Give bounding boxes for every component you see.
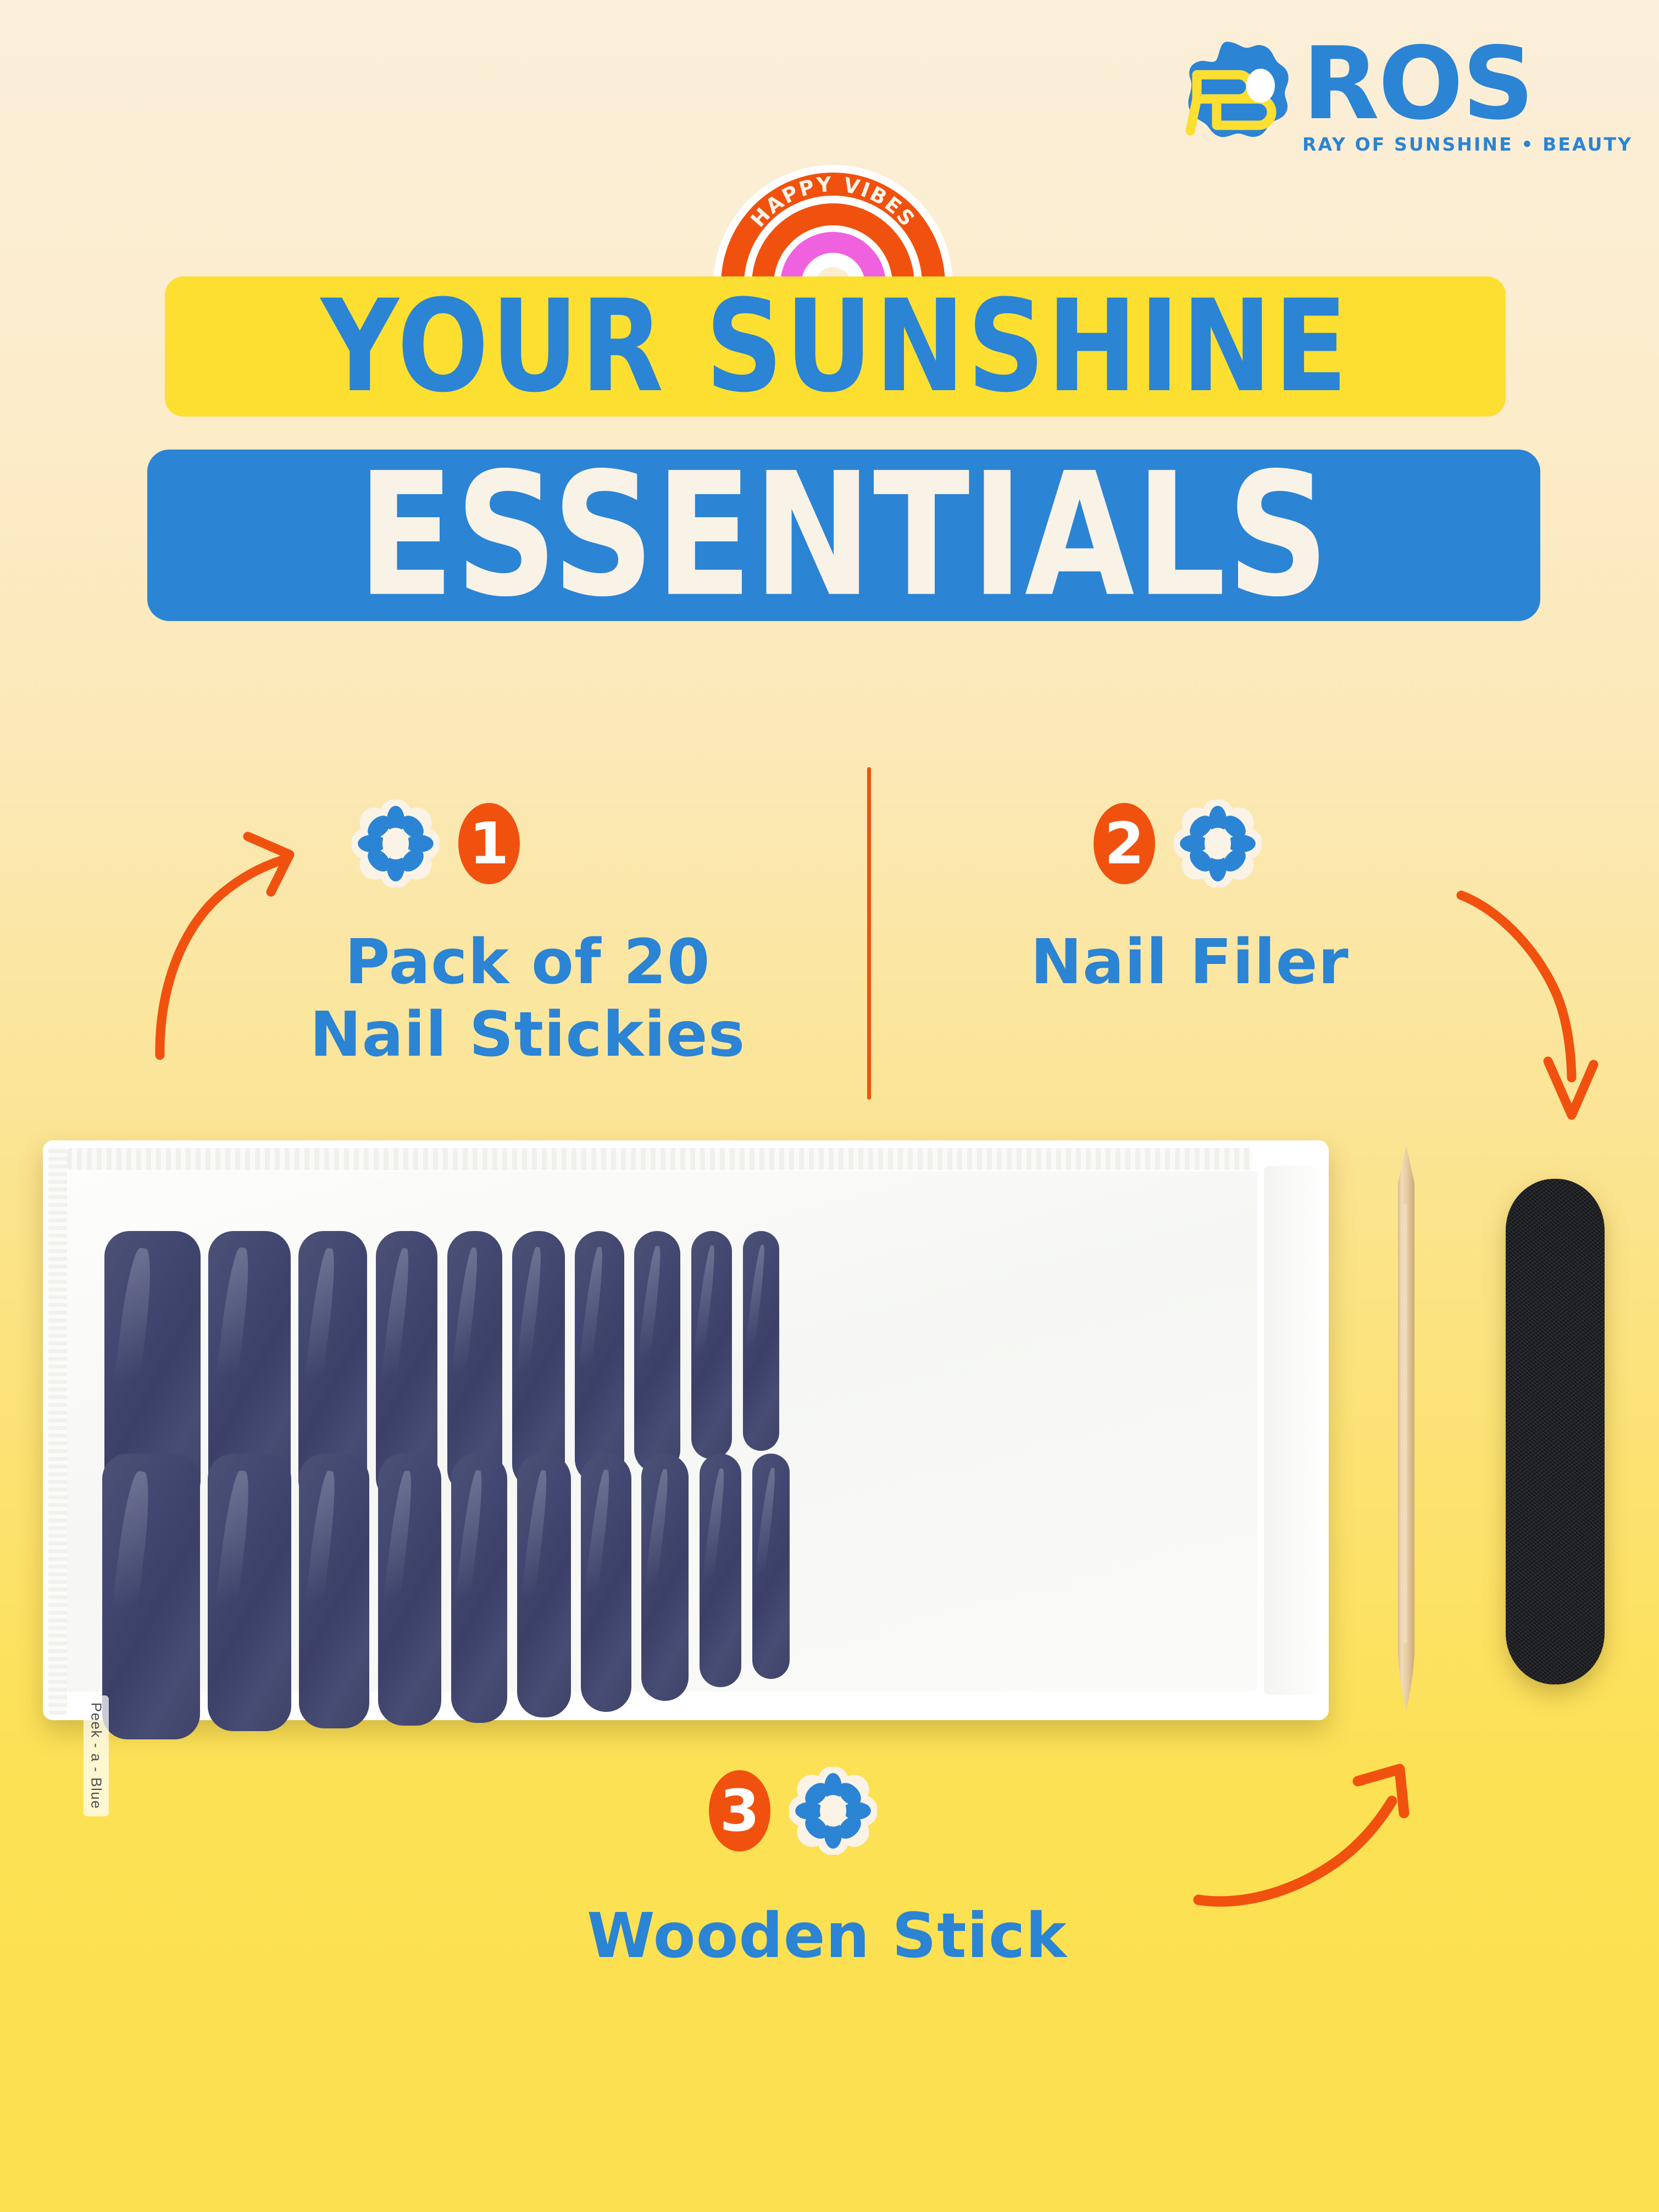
brand-logo: ROS RAY OF SUNSHINE • BEAUTY [1158,33,1647,159]
feature-item-2: 2 Nail Filer [934,800,1550,999]
shade-name-text: Peek - a - Blue [88,1703,105,1809]
feature-3-label: Wooden Stick [495,1900,1154,1972]
nail-sticker-pack: Peek - a - Blue [43,1140,1329,1720]
nail-filer [1506,1179,1605,1684]
nail-sticker [208,1454,291,1731]
flower-icon [789,1767,877,1855]
wooden-cuticle-stick [1389,1143,1423,1715]
nail-sticker [752,1454,790,1679]
happy-vibes-badge: HAPPY VIBES [709,153,957,285]
nail-sticker [581,1454,631,1712]
nail-sticker [102,1454,200,1739]
shade-name-label: Peek - a - Blue [84,1695,109,1816]
curved-arrow-up-right-icon [1179,1756,1464,1981]
title-banner-line2: ESSENTIALS [147,450,1540,621]
title-line1-text: YOUR SUNSHINE [321,273,1350,420]
title-banner-line1: YOUR SUNSHINE [165,276,1506,417]
pack-seal-top [67,1148,1252,1170]
filer-grit-texture [1506,1179,1605,1684]
sticker-row-bottom [102,1454,790,1739]
nail-sticker [575,1231,624,1484]
nail-sticker [517,1454,571,1717]
title-line2-text: ESSENTIALS [357,436,1330,634]
nail-sticker [691,1231,732,1459]
feature-2-number-badge: 2 [1094,803,1155,884]
feature-2-label: Nail Filer [934,926,1550,999]
pack-seal-left [48,1146,67,1715]
feature-item-1: 1 Pack of 20 Nail Stickies [187,800,835,1071]
nail-sticker [743,1231,779,1451]
feature-1-header: 1 [187,800,835,888]
feature-3-number: 3 [720,1782,759,1839]
feature-item-3: 3 Wooden Stick [495,1767,1154,1972]
flower-icon [1174,800,1262,888]
feature-3-header: 3 [495,1767,1154,1855]
flower-icon [352,800,440,888]
feature-1-number-badge: 1 [458,803,520,884]
nail-sticker [641,1454,689,1701]
nail-sticker [512,1231,565,1489]
logo-wordmark: ROS [1302,36,1633,131]
feature-2-number: 2 [1105,815,1144,872]
pack-seal-right [1264,1166,1321,1695]
nail-sticker [451,1454,507,1723]
feature-1-label: Pack of 20 Nail Stickies [187,926,835,1071]
flower-blob-icon [1158,37,1296,161]
feature-3-number-badge: 3 [709,1770,770,1851]
logo-tagline: RAY OF SUNSHINE • BEAUTY [1302,134,1633,155]
vertical-divider [867,767,871,1100]
nail-sticker [378,1454,441,1726]
nail-sticker [299,1454,369,1728]
feature-1-number: 1 [469,815,509,872]
nail-sticker [634,1231,680,1473]
nail-sticker [700,1454,741,1687]
feature-2-header: 2 [934,800,1550,888]
